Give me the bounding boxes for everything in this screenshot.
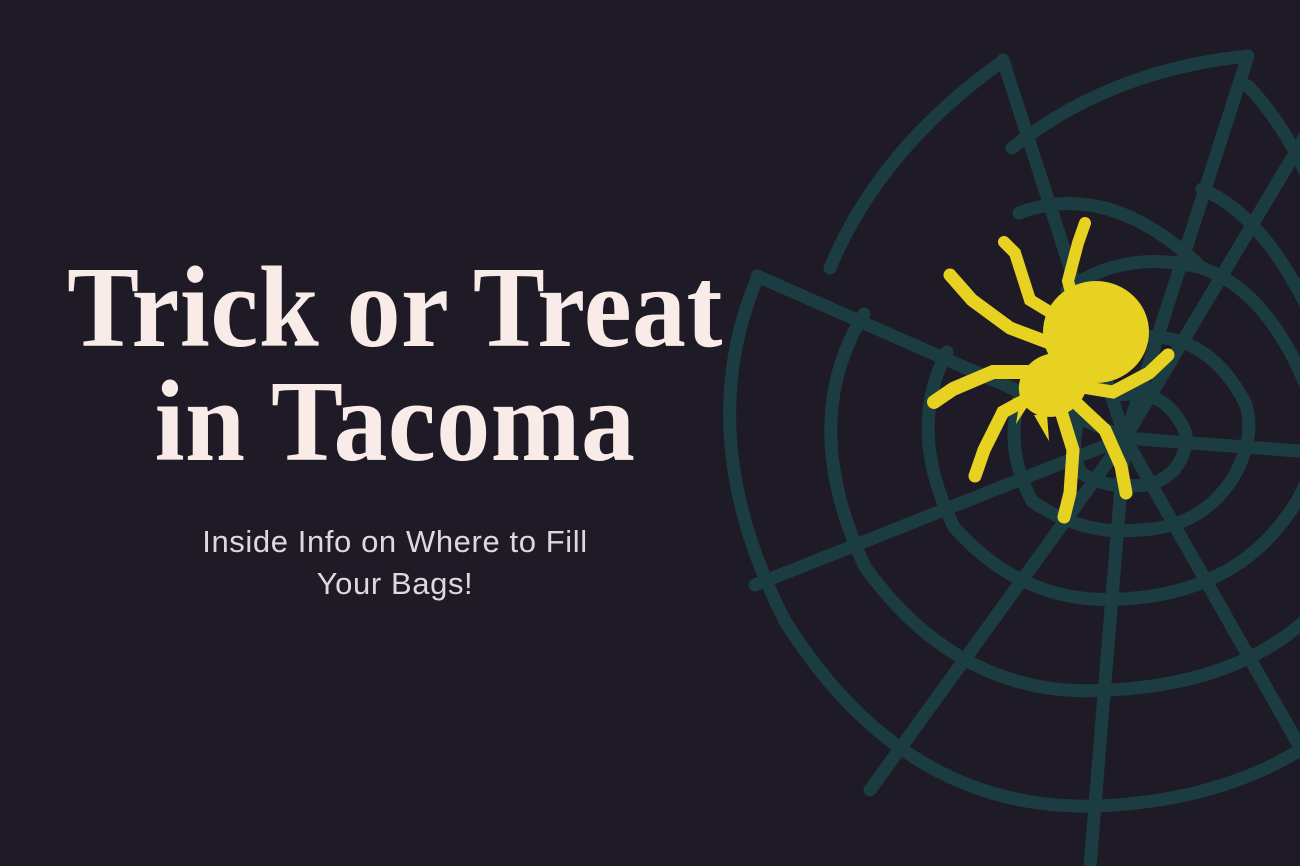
spider-abdomen bbox=[1043, 281, 1149, 383]
poster-text-block: Trick or Treat in Tacoma Inside Info on … bbox=[0, 252, 790, 604]
spider-icon bbox=[934, 223, 1168, 517]
web-spokes bbox=[755, 56, 1300, 866]
poster-canvas: Trick or Treat in Tacoma Inside Info on … bbox=[0, 0, 1300, 866]
spider-legs-left bbox=[934, 242, 1063, 476]
spider-pedipalp-left bbox=[1012, 398, 1029, 424]
spider-cephalothorax bbox=[1008, 341, 1099, 429]
spider-legs-right bbox=[1060, 223, 1168, 517]
web-rings bbox=[730, 56, 1300, 806]
spider-web-icon bbox=[730, 56, 1300, 866]
page-title: Trick or Treat in Tacoma bbox=[28, 252, 763, 479]
spider-pedipalp-right bbox=[1034, 414, 1049, 441]
page-subtitle: Inside Info on Where to Fill Your Bags! bbox=[0, 479, 790, 604]
